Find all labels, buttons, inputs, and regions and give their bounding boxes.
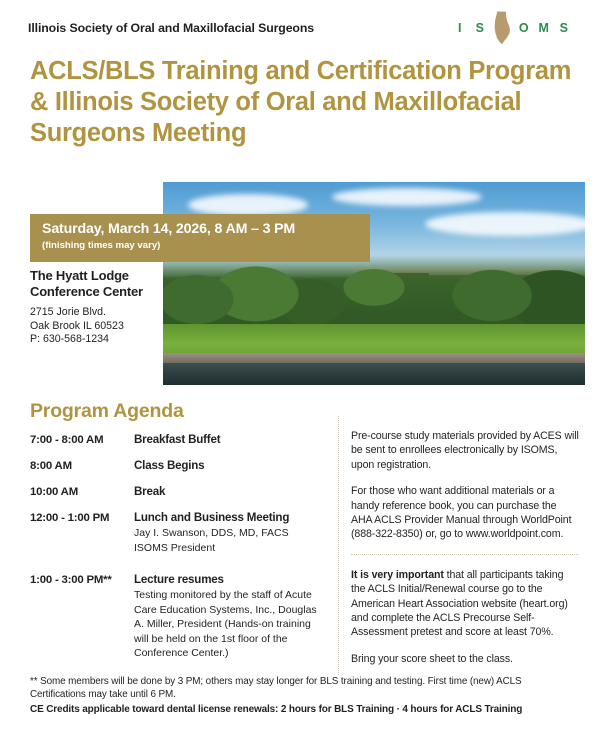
column-divider xyxy=(338,416,339,675)
score-sheet-note: Bring your score sheet to the class. xyxy=(351,652,579,666)
agenda-body: Break xyxy=(134,485,322,499)
venue-name: The Hyatt Lodge Conference Center xyxy=(30,268,165,299)
agenda-body: Class Begins xyxy=(134,459,322,473)
agenda-body: Breakfast Buffet xyxy=(134,433,322,447)
photo-water xyxy=(163,363,585,385)
notes-column: Pre-course study materials provided by A… xyxy=(351,429,579,678)
venue-name-line1: The Hyatt Lodge xyxy=(30,268,129,283)
footnotes: ** Some members will be done by 3 PM; ot… xyxy=(30,675,575,717)
logo-letter-s1: S xyxy=(470,21,490,35)
event-date-note: (finishing times may vary) xyxy=(42,239,370,252)
agenda-title: Class Begins xyxy=(134,459,322,473)
agenda-detail: Testing monitored by the staff of Acute … xyxy=(134,588,322,661)
logo-letter-m: M xyxy=(534,21,554,35)
event-date: Saturday, March 14, 2026, 8 AM – 3 PM xyxy=(42,220,370,238)
agenda-time: 10:00 AM xyxy=(30,485,134,499)
masthead: Illinois Society of Oral and Maxillofaci… xyxy=(28,10,578,46)
agenda-row: 12:00 - 1:00 PM Lunch and Business Meeti… xyxy=(30,511,322,555)
logo-letter-i: I xyxy=(450,21,470,35)
agenda-title: Breakfast Buffet xyxy=(134,433,322,447)
agenda-title: Lecture resumes xyxy=(134,573,322,587)
event-date-banner: Saturday, March 14, 2026, 8 AM – 3 PM (f… xyxy=(30,214,370,262)
ce-credits-note: CE Credits applicable toward dental lice… xyxy=(30,703,575,717)
important-note-lead: It is very important xyxy=(351,569,444,581)
logo-letter-o: O xyxy=(514,21,534,35)
agenda-body: Lecture resumes Testing monitored by the… xyxy=(134,573,322,661)
photo-cloud xyxy=(332,188,482,206)
additional-materials-note: For those who want additional materials … xyxy=(351,484,579,542)
precourse-materials-note: Pre-course study materials provided by A… xyxy=(351,429,579,472)
logo-letter-s2: S xyxy=(554,21,574,35)
agenda-title: Break xyxy=(134,485,322,499)
asterisk-footnote: ** Some members will be done by 3 PM; ot… xyxy=(30,675,575,701)
agenda-row: 7:00 - 8:00 AM Breakfast Buffet xyxy=(30,433,322,447)
venue-name-line2: Conference Center xyxy=(30,284,143,299)
venue-block: The Hyatt Lodge Conference Center 2715 J… xyxy=(30,268,165,347)
venue-phone: P: 630-568-1234 xyxy=(30,333,109,345)
agenda-time: 7:00 - 8:00 AM xyxy=(30,433,134,447)
agenda-row: 10:00 AM Break xyxy=(30,485,322,499)
important-note: It is very important that all participan… xyxy=(351,568,579,640)
venue-street: 2715 Jorie Blvd. xyxy=(30,306,106,318)
agenda-title: Lunch and Business Meeting xyxy=(134,511,322,525)
illinois-state-icon xyxy=(491,11,513,45)
organization-name: Illinois Society of Oral and Maxillofaci… xyxy=(28,21,314,35)
dotted-divider xyxy=(351,554,579,555)
flyer-page: Illinois Society of Oral and Maxillofaci… xyxy=(0,0,600,740)
agenda-list: 7:00 - 8:00 AM Breakfast Buffet 8:00 AM … xyxy=(30,433,322,673)
agenda-time: 8:00 AM xyxy=(30,459,134,473)
venue-address: 2715 Jorie Blvd. Oak Brook IL 60523 P: 6… xyxy=(30,306,165,347)
page-title: ACLS/BLS Training and Certification Prog… xyxy=(30,56,575,149)
agenda-time: 1:00 - 3:00 PM** xyxy=(30,573,134,661)
venue-photo xyxy=(163,182,585,385)
agenda-heading: Program Agenda xyxy=(30,400,184,423)
agenda-detail: Jay I. Swanson, DDS, MD, FACS ISOMS Pres… xyxy=(134,526,322,555)
agenda-row: 8:00 AM Class Begins xyxy=(30,459,322,473)
agenda-row: 1:00 - 3:00 PM** Lecture resumes Testing… xyxy=(30,573,322,661)
isoms-logo: I S O M S xyxy=(450,10,578,46)
agenda-body: Lunch and Business Meeting Jay I. Swanso… xyxy=(134,511,322,555)
agenda-time: 12:00 - 1:00 PM xyxy=(30,511,134,555)
venue-city-state-zip: Oak Brook IL 60523 xyxy=(30,320,124,332)
